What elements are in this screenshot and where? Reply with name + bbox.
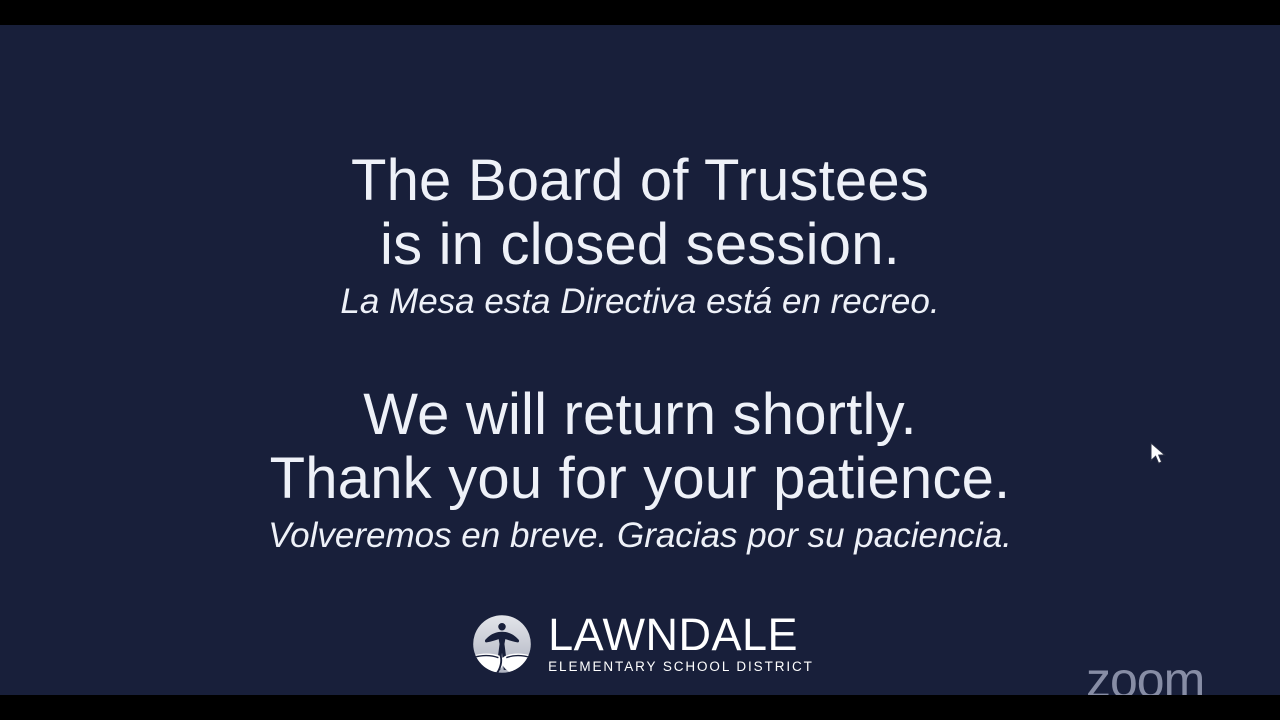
lawndale-seal-icon	[466, 608, 538, 680]
letterbox-bottom	[0, 695, 1280, 720]
return-shortly-headline-line-2: Thank you for your patience.	[0, 447, 1280, 511]
return-shortly-headline-line-1: We will return shortly.	[0, 383, 1280, 447]
closed-session-slide: The Board of Trustees is in closed sessi…	[0, 25, 1280, 695]
lawndale-tagline: ELEMENTARY SCHOOL DISTRICT	[548, 659, 814, 675]
closed-session-subline-spanish: La Mesa esta Directiva está en recreo.	[0, 279, 1280, 325]
lawndale-wordmark-group: LAWNDALE ELEMENTARY SCHOOL DISTRICT	[548, 614, 814, 675]
lawndale-wordmark: LAWNDALE	[548, 614, 814, 656]
zoom-meeting-screen: The Board of Trustees is in closed sessi…	[0, 0, 1280, 720]
closed-session-headline-line-2: is in closed session.	[0, 213, 1280, 277]
letterbox-top	[0, 0, 1280, 25]
return-shortly-subline-spanish: Volveremos en breve. Gracias por su paci…	[0, 513, 1280, 559]
closed-session-headline-line-1: The Board of Trustees	[0, 149, 1280, 213]
closed-session-message-block: The Board of Trustees is in closed sessi…	[0, 149, 1280, 325]
return-shortly-message-block: We will return shortly. Thank you for yo…	[0, 383, 1280, 559]
